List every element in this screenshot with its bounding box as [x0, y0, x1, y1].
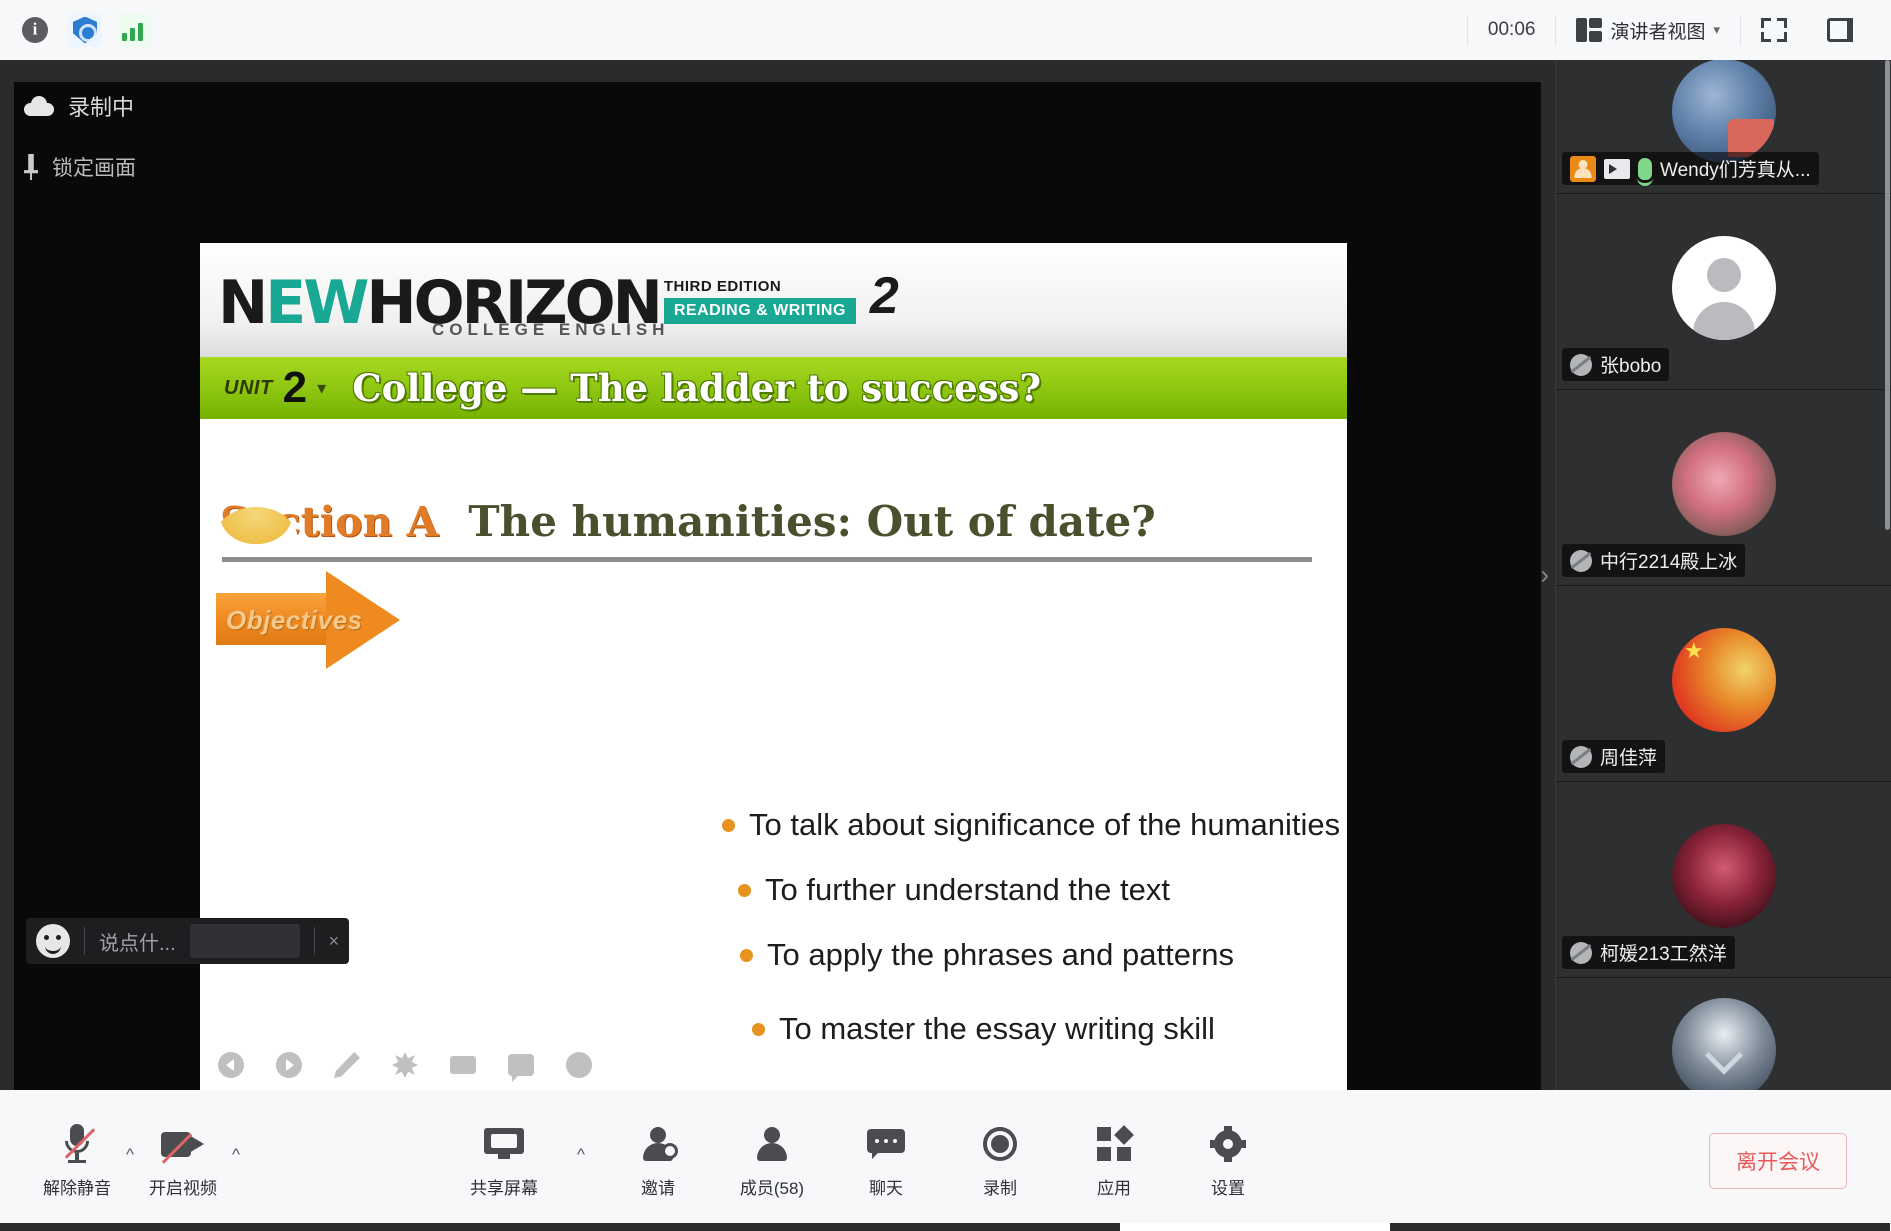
members-button[interactable]: 成员(58)	[729, 1122, 815, 1199]
unit-banner: UNIT 2 ▾ College — The ladder to success…	[200, 357, 1347, 419]
participant-name: 柯媛213工然洋	[1600, 939, 1727, 966]
participant-name-chip: 中行2214殿上冰	[1562, 544, 1745, 577]
comment-icon[interactable]	[508, 1054, 534, 1076]
layout-icon	[1827, 18, 1853, 42]
list-item: To master the essay writing skill	[752, 1011, 1215, 1047]
shared-screen-stage[interactable]: 录制中 锁定画面 NEW HORIZON THIRD EDITION	[0, 60, 1555, 1090]
section-underline	[222, 557, 1312, 562]
bullet-text: To further understand the text	[765, 872, 1170, 908]
info-icon[interactable]	[18, 13, 52, 47]
prev-icon[interactable]	[218, 1052, 244, 1078]
meeting-timer: 00:06	[1468, 7, 1556, 53]
avatar	[1672, 628, 1776, 732]
record-icon	[983, 1122, 1017, 1166]
footer-segment	[1390, 1223, 1890, 1231]
layout-button[interactable]	[1807, 7, 1873, 53]
leave-meeting-button[interactable]: 离开会议	[1709, 1133, 1847, 1189]
unit-title: College — The ladder to success?	[352, 366, 1041, 410]
divider	[314, 927, 315, 955]
next-page-arrow[interactable]: ›	[1540, 560, 1549, 591]
next-icon[interactable]	[276, 1052, 302, 1078]
screen-share-icon	[1604, 159, 1630, 179]
emoji-icon[interactable]	[36, 924, 70, 958]
volume-number: 2	[870, 266, 899, 326]
more-icon[interactable]	[566, 1052, 592, 1078]
invite-icon	[642, 1122, 674, 1166]
pinned-video-indicator[interactable]: 锁定画面	[24, 152, 136, 182]
host-badge-icon	[1570, 156, 1596, 182]
participant-name: 周佳萍	[1600, 743, 1657, 770]
gear-icon	[1211, 1122, 1245, 1166]
bullet-dot-icon	[738, 884, 751, 897]
camera-off-icon	[161, 1122, 205, 1166]
fullscreen-icon	[1761, 18, 1787, 42]
objectives-label: Objectives	[226, 605, 363, 636]
page-footer-strip	[0, 1223, 1891, 1231]
slide-content: Section A The humanities: Out of date? O…	[200, 419, 1347, 1101]
presentation-slide: NEW HORIZON THIRD EDITION READING & WRIT…	[200, 243, 1347, 1101]
edition-top-label: THIRD EDITION	[664, 278, 856, 295]
section-heading: Section A The humanities: Out of date?	[220, 497, 1320, 546]
edition-bottom-label: READING & WRITING	[664, 298, 856, 324]
spotlight-icon[interactable]	[392, 1052, 418, 1078]
chevron-down-icon: ▾	[317, 378, 326, 399]
participants-scrollbar[interactable]	[1885, 60, 1890, 530]
view-mode-label: 演讲者视图	[1610, 17, 1705, 44]
settings-label: 设置	[1211, 1174, 1245, 1199]
chevron-down-icon: ▾	[1713, 22, 1720, 38]
chrome-status-icons	[0, 13, 152, 47]
toolbar-right-group: 离开会议	[1709, 1133, 1891, 1189]
bullet-dot-icon	[752, 1023, 765, 1036]
list-item: To further understand the text	[738, 872, 1170, 908]
footer-segment	[0, 1223, 1120, 1231]
participant-tile[interactable]: 中行2214殿上冰	[1556, 390, 1891, 586]
invite-button[interactable]: 邀请	[615, 1122, 701, 1199]
recording-indicator: 录制中	[24, 90, 134, 122]
screen-share-icon	[484, 1122, 524, 1166]
chat-button[interactable]: 聊天	[843, 1122, 929, 1199]
video-options-caret[interactable]: ^	[230, 1145, 242, 1199]
chat-icon	[867, 1122, 905, 1166]
bullet-text: To apply the phrases and patterns	[767, 937, 1234, 973]
share-screen-button[interactable]: 共享屏幕	[461, 1122, 547, 1199]
audio-options-caret[interactable]: ^	[124, 1145, 136, 1199]
toolbar-left-group: 解除静音 ^ 开启视频 ^	[0, 1122, 242, 1199]
participant-name: 张bobo	[1600, 351, 1661, 378]
logo-subtitle: COLLEGE ENGLISH	[432, 320, 669, 340]
pin-icon	[24, 154, 38, 180]
bullet-text: To master the essay writing skill	[779, 1011, 1215, 1047]
list-item: To talk about significance of the humani…	[722, 807, 1340, 843]
avatar	[1672, 824, 1776, 928]
app-chrome-bar: 00:06 演讲者视图 ▾	[0, 0, 1891, 60]
avatar	[1672, 432, 1776, 536]
mic-off-icon	[1570, 550, 1592, 572]
logo-new-word: NEW	[218, 276, 366, 330]
chat-input-toast[interactable]: 说点什... ×	[26, 918, 349, 964]
edition-badge: THIRD EDITION READING & WRITING	[664, 278, 856, 324]
mic-off-icon	[1570, 942, 1592, 964]
invite-label: 邀请	[641, 1174, 675, 1199]
cloud-recording-icon	[24, 96, 54, 116]
record-button[interactable]: 录制	[957, 1122, 1043, 1199]
slide-annotation-toolbar[interactable]	[200, 1041, 620, 1089]
meeting-toolbar: 解除静音 ^ 开启视频 ^ 共享屏幕 ^	[0, 1090, 1891, 1231]
participant-tile[interactable]: 周佳萍	[1556, 586, 1891, 782]
participant-name-chip: 柯媛213工然洋	[1562, 936, 1735, 969]
participant-name: Wendy们芳真从...	[1660, 155, 1811, 182]
bullet-dot-icon	[722, 819, 735, 832]
participant-tile[interactable]: Wendy们芳真从...	[1556, 60, 1891, 194]
participants-rail[interactable]: Wendy们芳真从... 张bobo 中行2214殿上冰	[1555, 60, 1891, 1090]
pen-icon[interactable]	[334, 1052, 360, 1078]
divider	[84, 927, 85, 955]
participant-name-chip: 张bobo	[1562, 348, 1669, 381]
view-mode-selector[interactable]: 演讲者视图 ▾	[1556, 7, 1740, 53]
bullet-dot-icon	[740, 949, 753, 962]
avatar	[1672, 60, 1776, 163]
slide-brand-header: NEW HORIZON THIRD EDITION READING & WRIT…	[200, 243, 1347, 357]
objectives-arrow: Objectives	[216, 571, 414, 669]
list-item: To apply the phrases and patterns	[740, 937, 1234, 973]
section-title: The humanities: Out of date?	[468, 497, 1155, 546]
bullet-text: To talk about significance of the humani…	[749, 807, 1340, 843]
unit-number: 2	[283, 366, 307, 410]
participant-name-chip: Wendy们芳真从...	[1562, 152, 1819, 185]
members-label: 成员(58)	[740, 1174, 804, 1199]
apps-button[interactable]: 应用	[1071, 1122, 1157, 1199]
participants-icon	[756, 1122, 788, 1166]
record-label: 录制	[983, 1174, 1017, 1199]
mic-muted-icon	[64, 1122, 90, 1166]
meeting-body: 录制中 锁定画面 NEW HORIZON THIRD EDITION	[0, 60, 1891, 1090]
shield-icon[interactable]	[68, 13, 102, 47]
apps-label: 应用	[1097, 1174, 1131, 1199]
mute-button[interactable]: 解除静音	[34, 1122, 120, 1199]
mic-off-icon	[1570, 354, 1592, 376]
apps-icon	[1097, 1122, 1131, 1166]
chrome-right-controls: 00:06 演讲者视图 ▾	[1467, 0, 1891, 60]
participant-name-chip: 周佳萍	[1562, 740, 1665, 773]
unit-word: UNIT	[224, 377, 273, 400]
mute-label: 解除静音	[43, 1174, 111, 1199]
mic-on-icon	[1638, 158, 1652, 180]
camera-icon[interactable]	[450, 1056, 476, 1074]
share-label: 共享屏幕	[470, 1174, 538, 1199]
chat-placeholder: 说点什...	[99, 927, 176, 956]
chat-input[interactable]	[190, 924, 300, 958]
close-icon[interactable]: ×	[329, 931, 340, 952]
recording-label: 录制中	[68, 90, 134, 122]
avatar	[1672, 236, 1776, 340]
toolbar-center-group: 共享屏幕 ^ 邀请 成员(58) 聊天	[461, 1122, 1271, 1199]
participant-tile[interactable]: 张bobo	[1556, 194, 1891, 390]
pin-label: 锁定画面	[52, 152, 136, 182]
fullscreen-button[interactable]	[1741, 7, 1807, 53]
share-options-caret[interactable]: ^	[575, 1145, 587, 1199]
participant-name: 中行2214殿上冰	[1600, 547, 1737, 574]
mic-off-icon	[1570, 746, 1592, 768]
speaker-view-icon	[1576, 18, 1602, 42]
meeting-window: 00:06 演讲者视图 ▾ 录制中	[0, 0, 1891, 1231]
participant-tile[interactable]: 柯媛213工然洋	[1556, 782, 1891, 978]
video-label: 开启视频	[149, 1174, 217, 1199]
chat-label: 聊天	[869, 1174, 903, 1199]
avatar	[1672, 998, 1776, 1102]
settings-button[interactable]: 设置	[1185, 1122, 1271, 1199]
signal-icon[interactable]	[118, 13, 152, 47]
video-button[interactable]: 开启视频	[140, 1122, 226, 1199]
